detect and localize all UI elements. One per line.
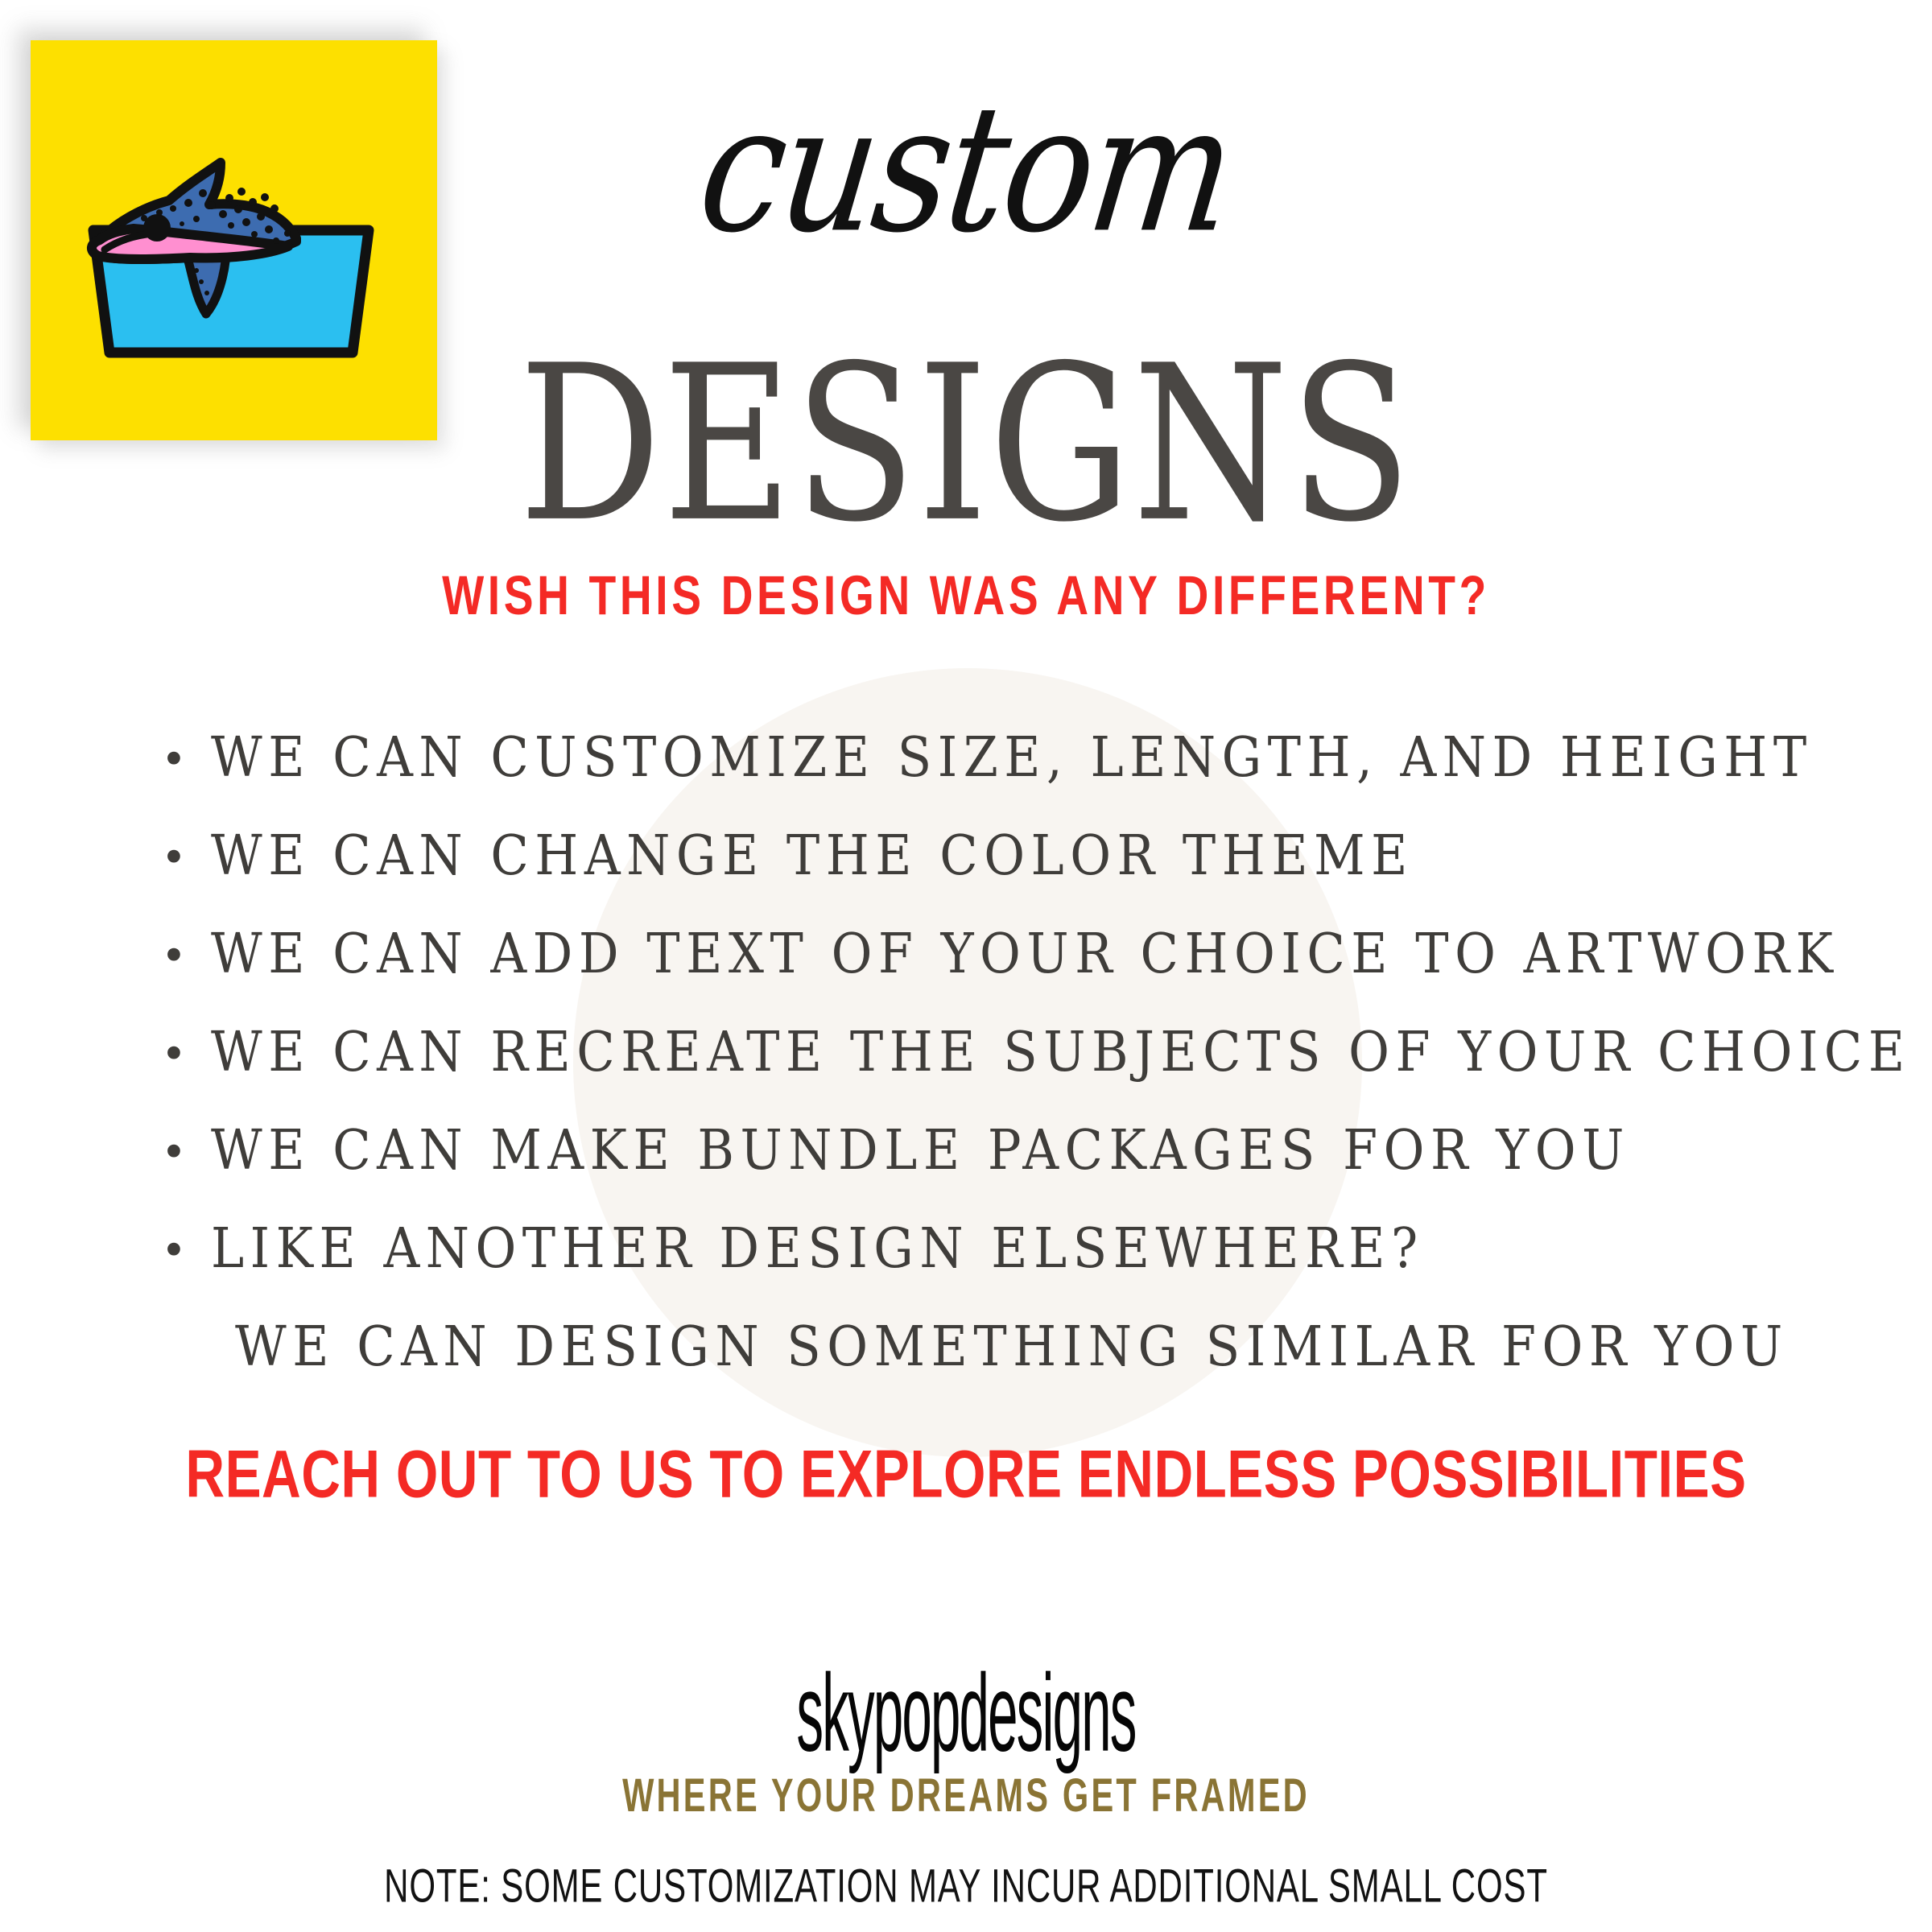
list-item: • WE CAN RECREATE THE SUBJECTS OF YOUR C… <box>161 1003 1819 1101</box>
list-item-continuation-label: WE CAN DESIGN SOMETHING SIMILAR FOR YOU <box>235 1293 1789 1401</box>
dolphin-in-tub-icon <box>31 40 437 440</box>
list-item: • WE CAN ADD TEXT OF YOUR CHOICE TO ARTW… <box>161 905 1819 1003</box>
list-item-label: WE CAN MAKE BUNDLE PACKAGES FOR YOU <box>211 1096 1630 1204</box>
bullet-icon: • <box>161 1005 211 1104</box>
list-item-label: WE CAN RECREATE THE SUBJECTS OF YOUR CHO… <box>211 998 1911 1106</box>
brand-tagline: WHERE YOUR DREAMS GET FRAMED <box>193 1773 1739 1819</box>
list-item: • LIKE ANOTHER DESIGN ELSEWHERE? <box>161 1199 1819 1298</box>
subheading: WISH THIS DESIGN WAS ANY DIFFERENT? <box>77 568 1855 623</box>
list-item-label: WE CAN CUSTOMIZE SIZE, LENGTH, AND HEIGH… <box>211 704 1813 811</box>
list-item-label: WE CAN CHANGE THE COLOR THEME <box>211 802 1414 910</box>
bullet-icon: • <box>161 1104 211 1202</box>
list-item: • WE CAN CUSTOMIZE SIZE, LENGTH, AND HEI… <box>161 708 1819 807</box>
brand-logo-text: skypopdesigns <box>386 1658 1546 1769</box>
bullet-icon: • <box>161 1202 211 1300</box>
list-item-continuation: WE CAN DESIGN SOMETHING SIMILAR FOR YOU <box>161 1298 1819 1396</box>
footer-note: NOTE: SOME CUSTOMIZATION MAY INCUR ADDIT… <box>155 1863 1777 1909</box>
bullet-icon: • <box>161 809 211 907</box>
list-item: • WE CAN MAKE BUNDLE PACKAGES FOR YOU <box>161 1101 1819 1199</box>
list-item-label: LIKE ANOTHER DESIGN ELSEWHERE? <box>211 1195 1424 1302</box>
bullet-icon: • <box>161 907 211 1005</box>
poster-canvas: custom DESIGNS WISH THIS DESIGN WAS ANY … <box>0 0 1932 1932</box>
call-to-action-text: REACH OUT TO US TO EXPLORE ENDLESS POSSI… <box>48 1441 1884 1509</box>
footer: skypopdesigns WHERE YOUR DREAMS GET FRAM… <box>0 1658 1932 1903</box>
bullet-icon: • <box>161 711 211 809</box>
feature-list: • WE CAN CUSTOMIZE SIZE, LENGTH, AND HEI… <box>161 708 1819 1396</box>
list-item-label: WE CAN ADD TEXT OF YOUR CHOICE TO ARTWOR… <box>211 900 1839 1008</box>
list-item: • WE CAN CHANGE THE COLOR THEME <box>161 807 1819 905</box>
artwork-card <box>31 40 437 440</box>
